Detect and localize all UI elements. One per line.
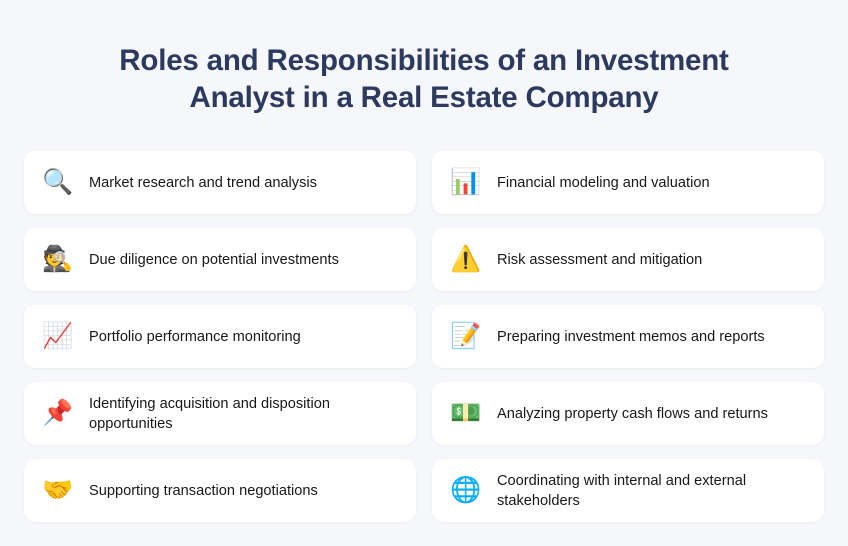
pushpin-icon: 📌 (41, 397, 75, 431)
responsibility-card-label: Market research and trend analysis (85, 173, 398, 193)
responsibility-card-label: Identifying acquisition and disposition … (85, 394, 398, 434)
responsibility-card-label: Portfolio performance monitoring (85, 327, 398, 347)
responsibility-card[interactable]: 📌Identifying acquisition and disposition… (24, 382, 416, 445)
responsibility-card[interactable]: 📊Financial modeling and valuation (432, 151, 824, 214)
responsibility-card[interactable]: 🌐Coordinating with internal and external… (432, 459, 824, 522)
page-title: Roles and Responsibilities of an Investm… (60, 42, 788, 116)
responsibility-card[interactable]: ⚠️Risk assessment and mitigation (432, 228, 824, 291)
memo-pencil-icon: 📝 (449, 320, 483, 354)
responsibility-card-grid: 🔍Market research and trend analysis📊Fina… (24, 151, 824, 522)
responsibility-card-label: Coordinating with internal and external … (493, 471, 806, 511)
responsibility-card-label: Financial modeling and valuation (493, 173, 806, 193)
responsibility-card-label: Preparing investment memos and reports (493, 327, 806, 347)
responsibility-card[interactable]: 🔍Market research and trend analysis (24, 151, 416, 214)
detective-icon: 🕵️ (41, 243, 75, 277)
responsibility-card[interactable]: 💵Analyzing property cash flows and retur… (432, 382, 824, 445)
responsibility-card-label: Due diligence on potential investments (85, 250, 398, 270)
dollar-banknote-icon: 💵 (449, 397, 483, 431)
responsibility-card-label: Risk assessment and mitigation (493, 250, 806, 270)
responsibility-card[interactable]: 🤝Supporting transaction negotiations (24, 459, 416, 522)
responsibility-card[interactable]: 🕵️Due diligence on potential investments (24, 228, 416, 291)
responsibility-card[interactable]: 📝Preparing investment memos and reports (432, 305, 824, 368)
infographic-page: Roles and Responsibilities of an Investm… (0, 0, 848, 546)
title-section: Roles and Responsibilities of an Investm… (0, 0, 848, 116)
responsibility-card-label: Analyzing property cash flows and return… (493, 404, 806, 424)
responsibility-card-label: Supporting transaction negotiations (85, 481, 398, 501)
globe-with-meridians-icon: 🌐 (449, 474, 483, 508)
bar-chart-icon: 📊 (449, 166, 483, 200)
handshake-icon: 🤝 (41, 474, 75, 508)
responsibility-card[interactable]: 📈Portfolio performance monitoring (24, 305, 416, 368)
chart-increasing-icon: 📈 (41, 320, 75, 354)
warning-triangle-icon: ⚠️ (449, 243, 483, 277)
magnifying-glass-tilted-left-icon: 🔍 (41, 166, 75, 200)
